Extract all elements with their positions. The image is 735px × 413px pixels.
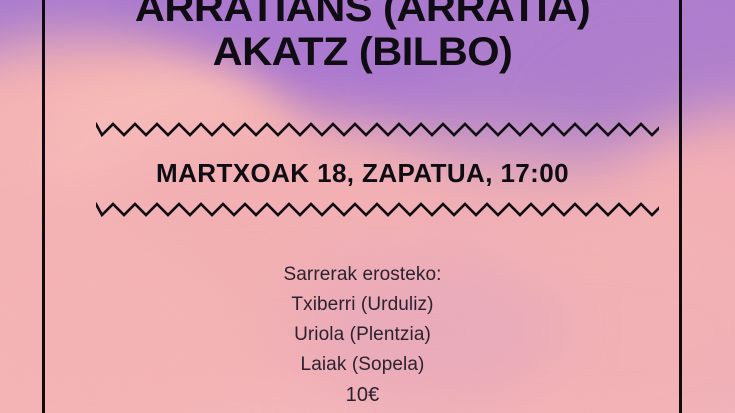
title-line-bands: ARRATIANS (ARRATIA) xyxy=(32,0,692,30)
ticket-info-block: Sarrerak erosteko: Txiberri (Urduliz) Ur… xyxy=(45,260,680,410)
title-line-band-second: AKATZ (BILBO) xyxy=(32,30,692,74)
event-date-time: MARTXOAK 18, ZAPATUA, 17:00 xyxy=(45,158,680,189)
zigzag-divider-top xyxy=(96,120,659,142)
ticket-info-heading: Sarrerak erosteko: xyxy=(45,260,680,290)
ticket-outlet-1: Txiberri (Urduliz) xyxy=(45,290,680,320)
ticket-outlet-3: Laiak (Sopela) xyxy=(45,350,680,380)
ticket-outlet-2: Uriola (Plentzia) xyxy=(45,320,680,350)
poster-title: ARRATIANS (ARRATIA) AKATZ (BILBO) xyxy=(45,0,680,74)
ticket-price: 10€ xyxy=(45,380,680,410)
zigzag-divider-bottom xyxy=(96,200,659,222)
event-poster: ARRATIANS (ARRATIA) AKATZ (BILBO) MARTXO… xyxy=(0,0,735,413)
